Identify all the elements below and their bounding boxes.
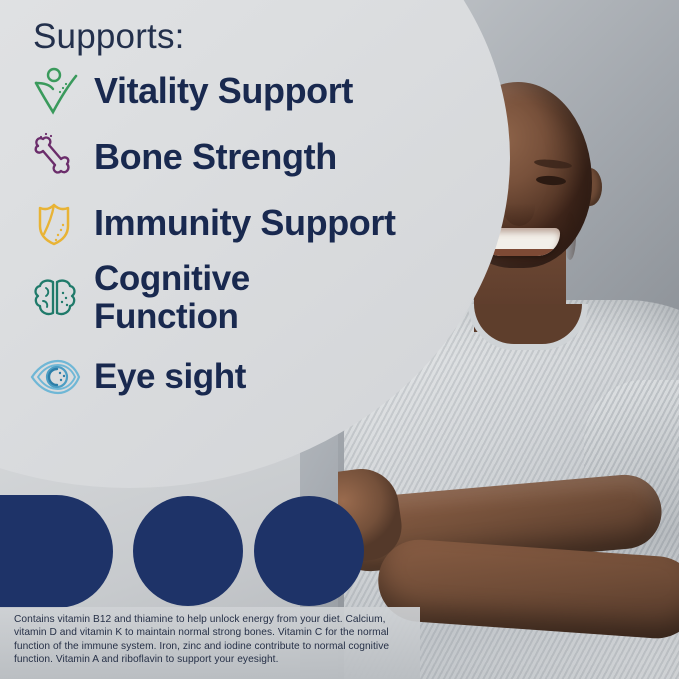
shield-icon <box>26 194 84 252</box>
benefit-row-eye: Eye sight <box>26 348 476 406</box>
brain-icon <box>26 269 84 327</box>
benefit-label-eye: Eye sight <box>94 357 246 397</box>
navy-circle-shape-2 <box>254 496 364 606</box>
benefit-label-cognitive: Cognitive Function <box>94 260 250 336</box>
navy-pill-shape <box>0 495 113 608</box>
benefit-row-cognitive: Cognitive Function <box>26 260 476 336</box>
smile-line-right <box>564 212 576 260</box>
benefit-row-bone: Bone Strength <box>26 128 476 186</box>
footer-disclaimer-text: Contains vitamin B12 and thiamine to hel… <box>14 613 402 667</box>
benefit-label-immunity: Immunity Support <box>94 203 396 243</box>
nose <box>503 188 535 226</box>
bone-icon <box>26 128 84 186</box>
supports-heading: Supports: <box>33 17 185 57</box>
eye-icon <box>26 348 84 406</box>
product-benefits-poster: Supports: Vitality Support <box>0 0 679 679</box>
benefit-row-vitality: Vitality Support <box>26 62 476 120</box>
benefit-label-vitality: Vitality Support <box>94 71 353 111</box>
benefit-row-immunity: Immunity Support <box>26 194 476 252</box>
navy-circle-shape-1 <box>133 496 243 606</box>
checkmark-person-icon <box>26 62 84 120</box>
benefits-list: Vitality Support Bone Strength <box>26 62 476 416</box>
benefit-label-bone: Bone Strength <box>94 137 337 177</box>
